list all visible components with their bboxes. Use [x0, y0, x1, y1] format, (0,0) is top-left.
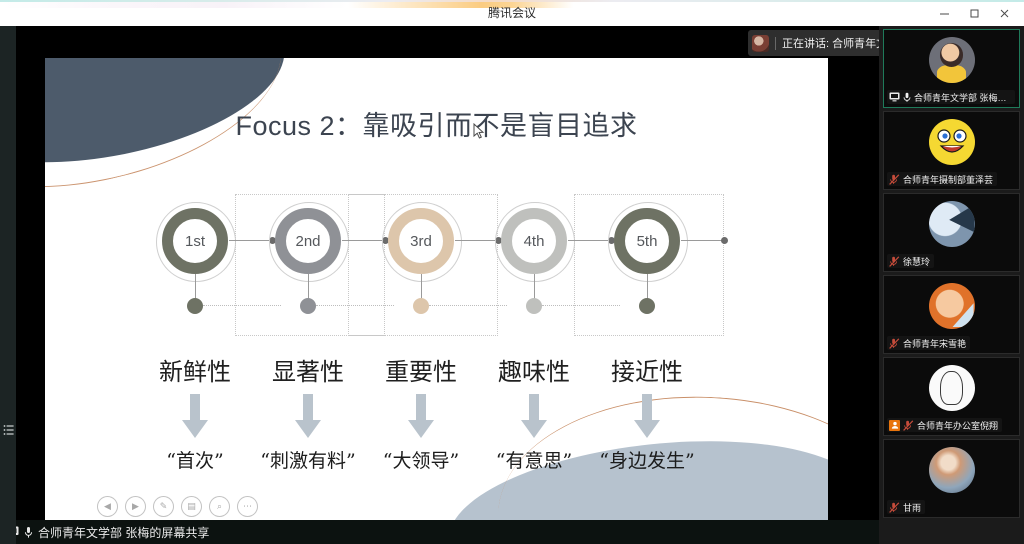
title-bar: 腾讯会议: [0, 0, 1024, 27]
step-ring: 3rd: [388, 208, 454, 274]
participants-strip[interactable]: 合师青年文学部 张梅的...合师青年摄制部董泽芸徐慧玲合师青年宋雪艳合师青年办公…: [879, 26, 1024, 544]
window-controls: [930, 0, 1018, 26]
avatar: [929, 283, 975, 329]
microphone-muted-icon: [903, 420, 914, 431]
minimize-button[interactable]: [930, 2, 958, 24]
step-ordinal: 4th: [524, 233, 545, 250]
presentation-slide: Focus 2：靠吸引而不是盲目追求 1st2nd3rd4th5th 新鲜性显著…: [45, 58, 828, 528]
step-quote: “身边发生”: [567, 446, 727, 473]
participant-name-chip: 合师青年办公室倪翔: [887, 418, 1002, 432]
slides-grid-button[interactable]: ▤: [181, 496, 202, 517]
microphone-icon: [24, 526, 33, 539]
microphone-muted-icon: [889, 338, 900, 349]
divider: [775, 37, 776, 50]
participant-name: 合师青年宋雪艳: [903, 337, 966, 350]
participant-name: 合师青年文学部 张梅的...: [914, 91, 1011, 104]
step-ordinal: 5th: [637, 233, 658, 250]
window-title: 腾讯会议: [0, 0, 1024, 26]
labels-row: 新鲜性显著性重要性趣味性接近性: [45, 352, 828, 392]
mouse-cursor: [473, 123, 485, 140]
pen-tool-button[interactable]: ✎: [153, 496, 174, 517]
timeline-row: 1st2nd3rd4th5th: [45, 188, 828, 358]
step-ordinal: 1st: [185, 233, 205, 250]
participant-name: 甘雨: [903, 501, 921, 514]
next-slide-button[interactable]: ▶: [125, 496, 146, 517]
participant-tile[interactable]: 合师青年摄制部董泽芸: [883, 111, 1020, 190]
participant-tile[interactable]: 合师青年办公室倪翔: [883, 357, 1020, 436]
participant-tile[interactable]: 甘雨: [883, 439, 1020, 518]
participant-tile[interactable]: 徐慧玲: [883, 193, 1020, 272]
avatar: [929, 119, 975, 165]
shared-screen-stage: Focus 2：靠吸引而不是盲目追求 1st2nd3rd4th5th 新鲜性显著…: [0, 26, 879, 544]
participant-name-chip: 甘雨: [887, 500, 925, 514]
step-ring: 2nd: [275, 208, 341, 274]
avatar: [929, 447, 975, 493]
participant-name-chip: 合师青年宋雪艳: [887, 336, 970, 350]
ppt-floating-toolbar[interactable]: ◀▶✎▤⌕⋯: [97, 494, 258, 518]
down-arrow-icon: [577, 394, 717, 440]
participant-name: 徐慧玲: [903, 255, 930, 268]
step-ring: 5th: [614, 208, 680, 274]
microphone-muted-icon: [889, 256, 900, 267]
speaker-avatar: [752, 35, 769, 52]
step-ordinal: 3rd: [410, 233, 432, 250]
tencent-meeting-window: 腾讯会议 Focus 2：靠吸引而不是盲目追求 1st2nd3rd4th5th …: [0, 0, 1024, 544]
participant-name: 合师青年摄制部董泽芸: [903, 173, 993, 186]
close-button[interactable]: [990, 2, 1018, 24]
step-ring: 1st: [162, 208, 228, 274]
step-label: 接近性: [577, 352, 717, 387]
maximize-button[interactable]: [960, 2, 988, 24]
list-menu-icon[interactable]: [2, 422, 15, 438]
participant-name: 合师青年办公室倪翔: [917, 419, 998, 432]
participant-tile[interactable]: 合师青年宋雪艳: [883, 275, 1020, 354]
prev-slide-button[interactable]: ◀: [97, 496, 118, 517]
avatar: [929, 201, 975, 247]
avatar: [929, 37, 975, 83]
participant-name-chip: 徐慧玲: [887, 254, 934, 268]
step-stem-dot: [526, 298, 542, 314]
step-stem-dot: [413, 298, 429, 314]
left-rail: [0, 26, 16, 544]
participant-tile[interactable]: 合师青年文学部 张梅的...: [883, 29, 1020, 108]
close-icon: [999, 8, 1010, 19]
microphone-muted-icon: [889, 174, 900, 185]
step-stem-dot: [639, 298, 655, 314]
participant-name-chip: 合师青年文学部 张梅的...: [887, 90, 1015, 104]
timeline-dotted-line: [429, 305, 507, 307]
step-stem-dot: [300, 298, 316, 314]
step-ordinal: 2nd: [295, 233, 320, 250]
more-options-button[interactable]: ⋯: [237, 496, 258, 517]
participant-name-chip: 合师青年摄制部董泽芸: [887, 172, 997, 186]
share-bar-label: 合师青年文学部 张梅的屏幕共享: [38, 524, 209, 541]
minimize-icon: [939, 8, 950, 19]
microphone-muted-icon: [889, 502, 900, 513]
maximize-icon: [969, 8, 980, 19]
slide-title: Focus 2：靠吸引而不是盲目追求: [45, 104, 828, 143]
step-connector: [681, 240, 727, 241]
quotes-row: “首次”“刺激有料”“大领导”“有意思”“身边发生”: [45, 446, 828, 486]
host-badge-icon: [889, 420, 900, 431]
microphone-icon: [903, 92, 911, 103]
arrows-row: [45, 394, 828, 448]
avatar: [929, 365, 975, 411]
step-ring: 4th: [501, 208, 567, 274]
screen-share-bar: 合师青年文学部 张梅的屏幕共享: [0, 520, 885, 544]
step-stem-dot: [187, 298, 203, 314]
zoom-button[interactable]: ⌕: [209, 496, 230, 517]
screen-share-icon: [889, 92, 900, 102]
